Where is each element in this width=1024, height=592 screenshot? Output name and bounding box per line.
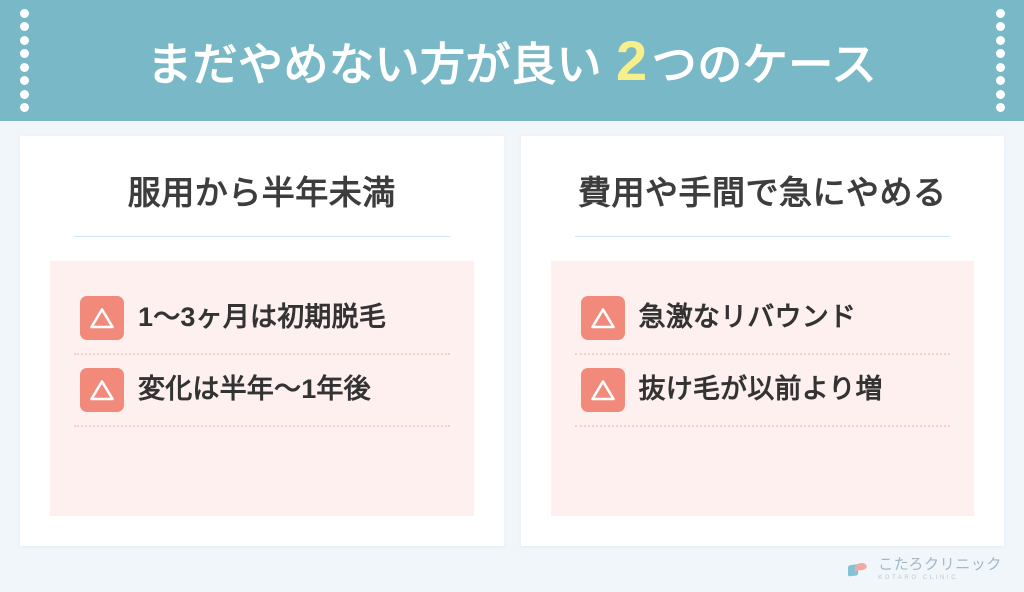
card-divider <box>575 236 951 237</box>
slide-root: まだやめない方が良い 2 つのケース 服用から半年未満 <box>0 0 1024 592</box>
list-item: 変化は半年〜1年後 <box>70 355 454 425</box>
cards-container: 服用から半年未満 1〜3ヶ月は初期脱毛 <box>20 136 1004 546</box>
dot <box>996 22 1005 31</box>
card-panel: 急激なリバウンド 抜け毛が以前より増 <box>551 261 975 516</box>
dot <box>996 90 1005 99</box>
header-dots-left <box>19 9 29 112</box>
list-item-label: 変化は半年〜1年後 <box>138 376 371 403</box>
dot <box>996 63 1005 72</box>
warning-triangle-icon <box>80 368 124 412</box>
dot <box>20 49 29 58</box>
dot <box>20 63 29 72</box>
card-divider <box>74 236 450 237</box>
dot <box>996 36 1005 45</box>
logo-name-en: KOTARO CLINIC <box>878 575 1002 583</box>
list-item-label: 急激なリバウンド <box>639 304 857 331</box>
dot <box>20 9 29 18</box>
dot <box>20 76 29 85</box>
case-card-1: 服用から半年未満 1〜3ヶ月は初期脱毛 <box>20 136 504 546</box>
dot <box>996 9 1005 18</box>
card-panel: 1〜3ヶ月は初期脱毛 変化は半年〜1年後 <box>50 261 474 516</box>
header-dots-right <box>995 9 1005 112</box>
item-separator <box>575 425 951 427</box>
page-title: まだやめない方が良い 2 つのケース <box>147 33 877 89</box>
logo-name-jp: こたろクリニック <box>878 557 1002 574</box>
warning-triangle-icon <box>80 296 124 340</box>
page-title-before: まだやめない方が良い <box>147 42 602 87</box>
card-title: 服用から半年未満 <box>50 174 474 212</box>
warning-triangle-icon <box>581 368 625 412</box>
page-title-after: つのケース <box>652 42 877 87</box>
page-title-number: 2 <box>602 33 652 89</box>
dot <box>996 103 1005 112</box>
list-item: 急激なリバウンド <box>571 283 955 353</box>
dot <box>20 90 29 99</box>
clinic-logo: こたろクリニック KOTARO CLINIC <box>845 557 1002 583</box>
logo-text: こたろクリニック KOTARO CLINIC <box>878 557 1002 582</box>
list-item-label: 抜け毛が以前より増 <box>639 376 883 403</box>
list-item-label: 1〜3ヶ月は初期脱毛 <box>138 304 386 331</box>
dot <box>996 49 1005 58</box>
list-item: 1〜3ヶ月は初期脱毛 <box>70 283 454 353</box>
item-separator <box>74 425 450 427</box>
dot <box>20 103 29 112</box>
dot <box>20 36 29 45</box>
dot <box>20 22 29 31</box>
warning-triangle-icon <box>581 296 625 340</box>
logo-mark-icon <box>845 557 871 583</box>
case-card-2: 費用や手間で急にやめる 急激なリバウンド <box>521 136 1005 546</box>
list-item: 抜け毛が以前より増 <box>571 355 955 425</box>
header-banner: まだやめない方が良い 2 つのケース <box>0 0 1024 121</box>
card-title: 費用や手間で急にやめる <box>551 174 975 212</box>
dot <box>996 76 1005 85</box>
